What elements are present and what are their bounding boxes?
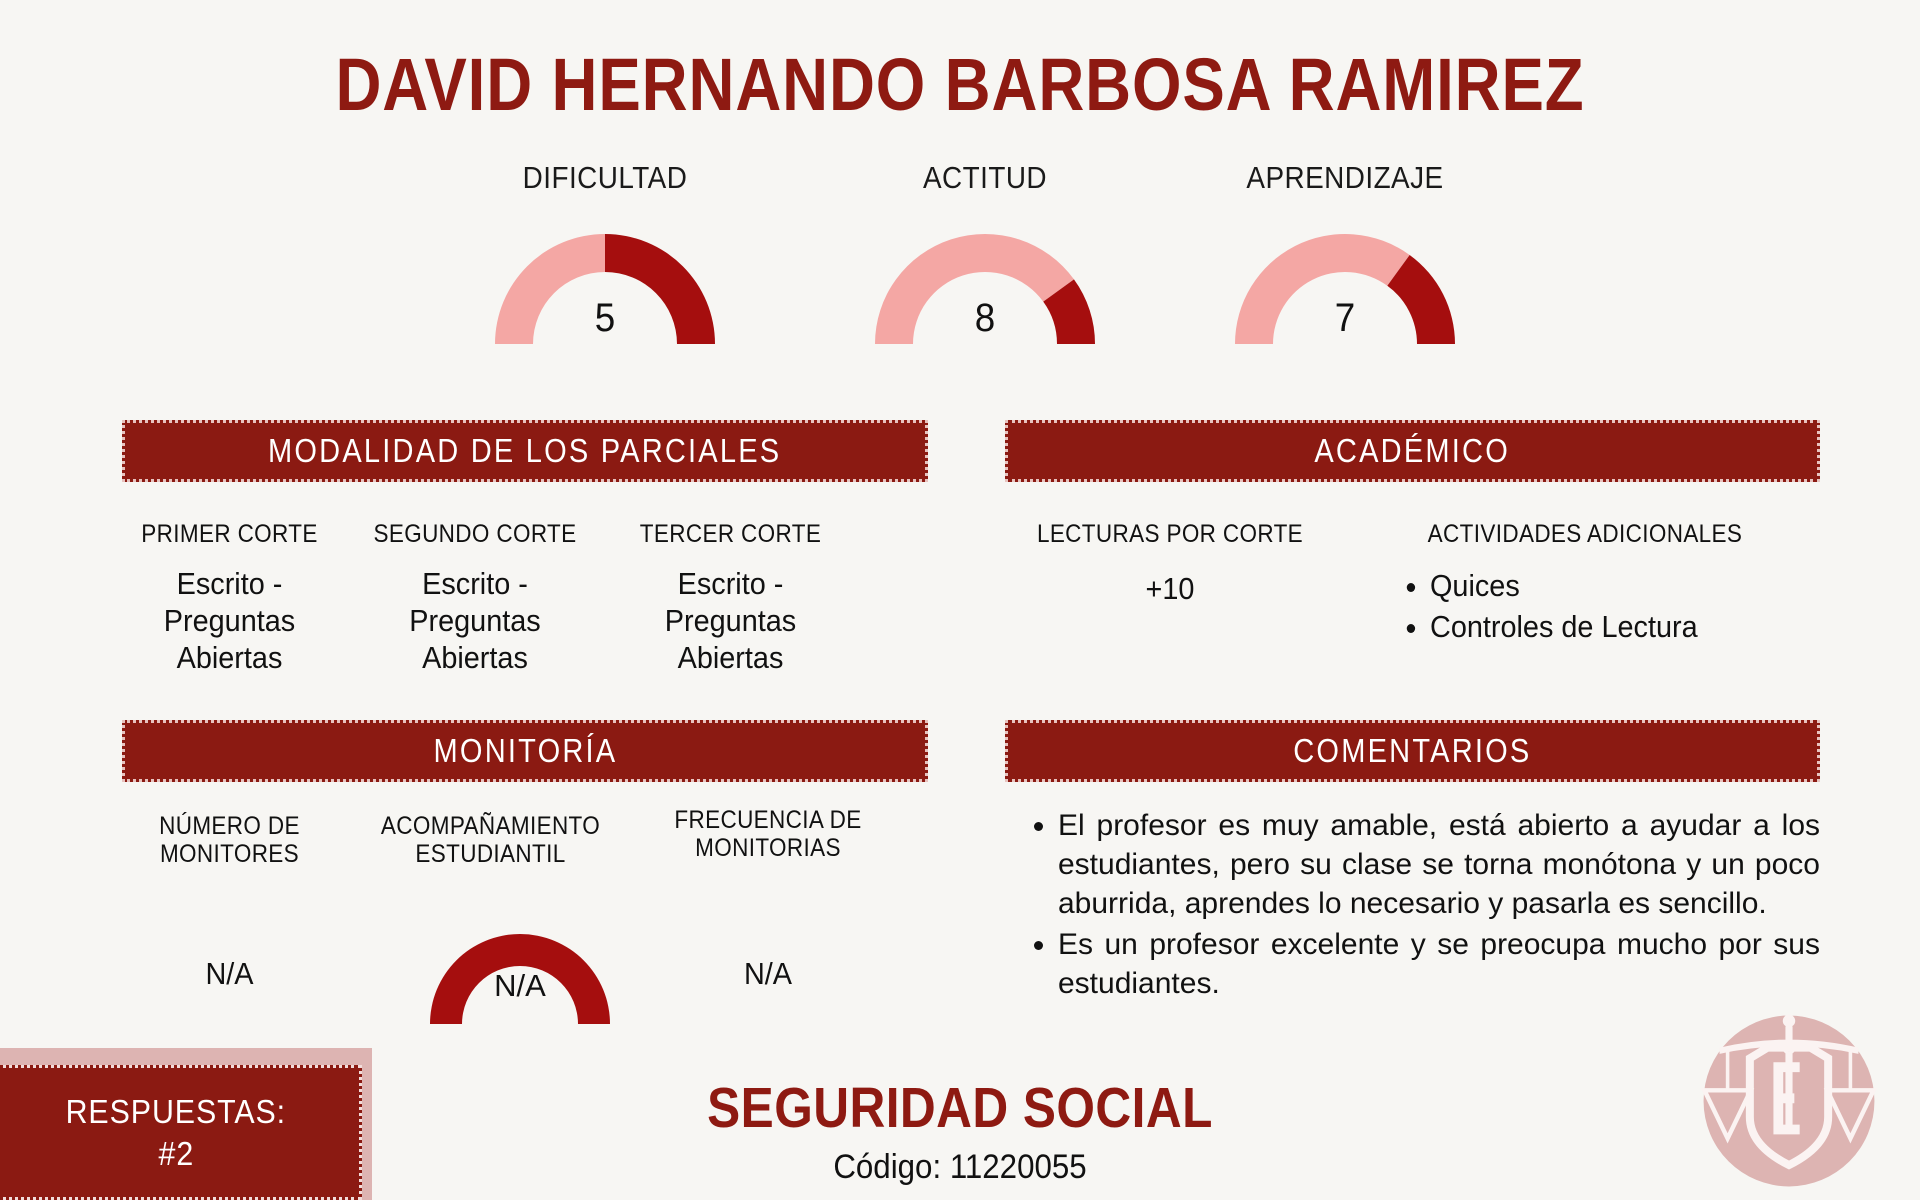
gauge-arc-aprendizaje: 7 — [1220, 218, 1470, 350]
label-actividades-adicionales: ACTIVIDADES ADICIONALES — [1380, 520, 1790, 548]
panel-header-modalidad: MODALIDAD DE LOS PARCIALES — [122, 420, 928, 482]
gauge-value-actitud: 8 — [870, 296, 1100, 341]
column-label-tercer-corte: TERCER CORTE — [618, 520, 843, 548]
column-value-acompanamiento: N/A — [400, 968, 640, 1004]
page-title: DAVID HERNANDO BARBOSA RAMIREZ — [134, 42, 1785, 127]
panel-header-monitoria: MONITORÍA — [122, 720, 928, 782]
value-lecturas-por-corte: +10 — [1005, 570, 1335, 607]
list-item: Es un profesor excelente y se preocupa m… — [1058, 925, 1820, 1003]
gauge-arc-actitud: 8 — [860, 218, 1110, 350]
scales-of-justice-logo — [1700, 1012, 1878, 1190]
column-label-numero-monitores: NÚMERO DE MONITORES — [122, 812, 337, 868]
column-label-frecuencia: FRECUENCIA DE MONITORIAS — [648, 806, 888, 862]
infographic-canvas: DAVID HERNANDO BARBOSA RAMIREZ DIFICULTA… — [0, 0, 1920, 1200]
gauge-actitud: ACTITUD 8 — [805, 160, 1165, 350]
list-item: Quices — [1430, 566, 1793, 607]
column-value-primer-corte: Escrito - Preguntas Abiertas — [122, 565, 337, 677]
column-label-primer-corte: PRIMER CORTE — [122, 520, 337, 548]
gauge-dificultad: DIFICULTAD 5 — [425, 160, 785, 350]
column-value-frecuencia: N/A — [648, 955, 888, 992]
column-label-segundo-corte: SEGUNDO CORTE — [350, 520, 600, 548]
column-value-numero-monitores: N/A — [122, 955, 337, 992]
gauge-label-actitud: ACTITUD — [823, 160, 1147, 196]
panel-header-comentarios: COMENTARIOS — [1005, 720, 1820, 782]
gauge-value-dificultad: 5 — [490, 296, 720, 341]
list-actividades-adicionales: Quices Controles de Lectura — [1400, 566, 1820, 648]
course-code: Código: 11220055 — [77, 1148, 1843, 1187]
gauge-aprendizaje: APRENDIZAJE 7 — [1165, 160, 1525, 350]
list-item: El profesor es muy amable, está abierto … — [1058, 806, 1820, 923]
column-value-segundo-corte: Escrito - Preguntas Abiertas — [350, 565, 600, 677]
gauge-arc-dificultad: 5 — [480, 218, 730, 350]
gauge-value-aprendizaje: 7 — [1230, 296, 1460, 341]
label-lecturas-por-corte: LECTURAS POR CORTE — [1005, 520, 1335, 548]
gauge-acompanamiento-estudiantil: N/A — [400, 910, 640, 1030]
list-comentarios: El profesor es muy amable, está abierto … — [1030, 806, 1820, 1005]
panel-header-academico: ACADÉMICO — [1005, 420, 1820, 482]
list-item: Controles de Lectura — [1430, 607, 1793, 648]
gauge-label-aprendizaje: APRENDIZAJE — [1183, 160, 1507, 196]
rating-gauges: DIFICULTAD 5 ACTITUD 8 APRENDIZAJE — [0, 160, 1920, 390]
gauge-label-dificultad: DIFICULTAD — [443, 160, 767, 196]
course-title: SEGURIDAD SOCIAL — [125, 1075, 1795, 1141]
logo-svg — [1700, 1012, 1878, 1190]
column-value-tercer-corte: Escrito - Preguntas Abiertas — [618, 565, 843, 677]
column-label-acompanamiento: ACOMPAÑAMIENTO ESTUDIANTIL — [348, 812, 633, 868]
